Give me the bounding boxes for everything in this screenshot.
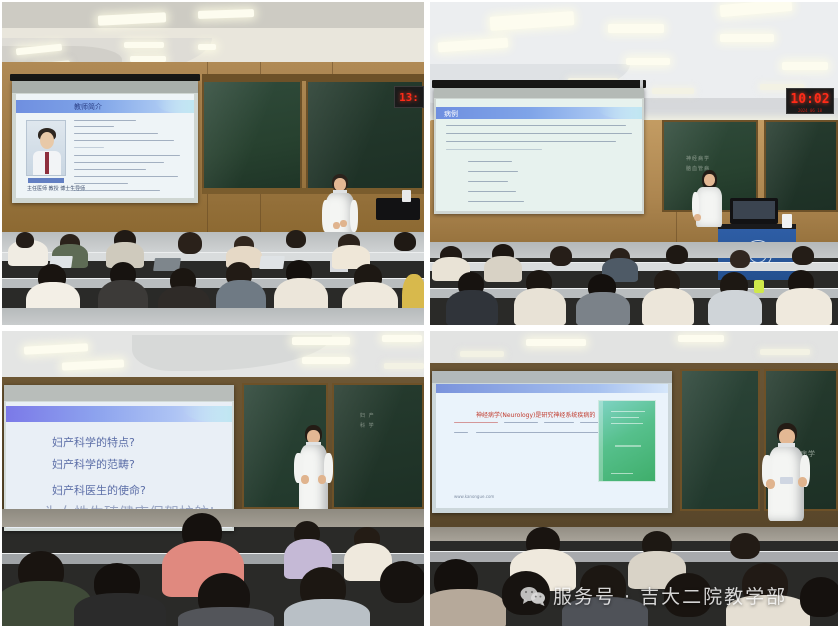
book-cover-line bbox=[611, 417, 639, 418]
board-sheen bbox=[682, 371, 758, 509]
student-body bbox=[776, 288, 832, 325]
bullet-line bbox=[74, 155, 180, 156]
body-line bbox=[544, 422, 574, 423]
student-head bbox=[16, 232, 34, 248]
slide-question-3: 妇产科医生的使命? bbox=[52, 482, 146, 498]
bullet-line bbox=[74, 169, 146, 170]
chalk-text: 科 学 bbox=[360, 423, 375, 430]
band-swoosh bbox=[155, 100, 194, 113]
portrait-name-bar bbox=[28, 178, 64, 183]
bullet-line bbox=[74, 140, 174, 141]
slide-title-band bbox=[436, 384, 668, 393]
lecturer-hand bbox=[301, 475, 309, 484]
screen-case bbox=[432, 80, 646, 88]
band-swoosh bbox=[597, 107, 642, 119]
body-line bbox=[446, 149, 542, 150]
ceiling-light bbox=[760, 349, 810, 355]
option-line bbox=[468, 191, 516, 192]
slide-top-left: 教师简介 主任医师 教授 博士生导师 bbox=[16, 94, 194, 198]
ceiling-light bbox=[652, 88, 694, 94]
clock-time: 13: bbox=[399, 91, 419, 104]
clock-date: 2024 06 18 bbox=[787, 108, 833, 113]
photo-collage: 13: 教师简介 主任医师 教授 博士生导师 bbox=[0, 0, 838, 626]
option-line bbox=[468, 161, 512, 162]
slide-title-band: 病例 bbox=[436, 107, 642, 119]
ceiling-light bbox=[678, 335, 724, 342]
chalk-text: 神经病学 bbox=[686, 156, 710, 163]
audience-bottom-right bbox=[430, 537, 838, 626]
book-cover bbox=[598, 400, 656, 482]
slide-question-1: 妇产科学的特点? bbox=[52, 434, 135, 450]
book-cover-line bbox=[611, 473, 633, 474]
student-body bbox=[446, 290, 498, 325]
podium-monitor bbox=[730, 198, 778, 224]
student-head bbox=[502, 571, 550, 615]
led-clock: 10:02 2024 06 18 bbox=[786, 88, 834, 114]
student-head bbox=[730, 250, 750, 268]
slide-title-band: 教师简介 bbox=[16, 100, 194, 113]
ceiling-light bbox=[626, 58, 670, 65]
screen-top-edge bbox=[4, 385, 234, 401]
panel-top-left: 13: 教师简介 主任医师 教授 博士生导师 bbox=[2, 2, 424, 325]
projection-screen: 神经病学(Neurology)是研究神经系统疾病的 www.kanongue.c… bbox=[432, 371, 672, 513]
student-head bbox=[394, 232, 416, 251]
option-line bbox=[468, 181, 508, 182]
screen-top-edge bbox=[434, 88, 644, 98]
panel-bottom-right: 神经病学 神经病学(Neurology)是研究神经系统疾病的 www.kanon… bbox=[430, 331, 838, 626]
book-cover-line bbox=[611, 411, 645, 412]
lecturer-top-right bbox=[692, 170, 726, 232]
projection-screen: 病例 bbox=[434, 88, 644, 214]
slide-title-band bbox=[6, 406, 232, 422]
collage-gutter-horizontal bbox=[0, 325, 838, 331]
student-body bbox=[430, 589, 506, 626]
book-spine bbox=[599, 401, 603, 481]
portrait-photo bbox=[26, 120, 66, 176]
student-head bbox=[800, 577, 838, 617]
ceiling-light bbox=[460, 351, 504, 357]
portrait-face bbox=[40, 132, 54, 149]
bullet-line bbox=[74, 183, 128, 184]
equipment-box bbox=[402, 190, 411, 202]
lecturer-arm bbox=[350, 200, 358, 232]
lecturer-hand bbox=[333, 222, 340, 229]
screen-top-edge bbox=[12, 81, 198, 93]
name-badge bbox=[780, 477, 793, 484]
lecturer-arm bbox=[322, 200, 330, 232]
board-chalk-tray bbox=[202, 188, 424, 194]
student-body bbox=[708, 290, 762, 325]
equipment-table bbox=[376, 198, 420, 220]
body-line bbox=[504, 422, 538, 423]
slide-heading: 神经病学(Neurology)是研究神经系统疾病的 bbox=[476, 410, 595, 419]
body-line-red bbox=[454, 422, 498, 423]
chalk-text: 妇 产 bbox=[360, 413, 375, 420]
audience-bottom-left bbox=[2, 527, 424, 626]
bullet-line bbox=[74, 190, 160, 191]
student-body bbox=[284, 599, 370, 626]
collage-edge-top bbox=[0, 0, 838, 2]
lecturer-coat bbox=[696, 187, 722, 227]
book-cover-line bbox=[611, 423, 643, 424]
student-head bbox=[380, 561, 424, 603]
ceiling-light bbox=[382, 335, 422, 342]
student-head bbox=[178, 232, 202, 254]
body-line bbox=[446, 133, 632, 134]
student-body bbox=[562, 597, 648, 626]
ceiling-light bbox=[782, 62, 828, 70]
bullet-line bbox=[74, 176, 178, 177]
student-body bbox=[74, 593, 166, 626]
student-head bbox=[286, 230, 306, 248]
foreground-floor bbox=[2, 308, 424, 325]
lecturer-hand bbox=[694, 214, 701, 221]
panel-bottom-left: 妇 产 科 学 妇产科学的特点? 妇产科学的范畴? 妇产科医生的使命? 为女性生… bbox=[2, 331, 424, 626]
ceiling-light bbox=[292, 337, 350, 345]
lecturer-hand bbox=[340, 220, 347, 227]
slide-bottom-right: 神经病学(Neurology)是研究神经系统疾病的 www.kanongue.c… bbox=[436, 384, 668, 508]
bullet-line bbox=[74, 133, 158, 134]
student-body bbox=[642, 288, 694, 325]
ceiling-light bbox=[302, 357, 350, 364]
ceiling-light bbox=[720, 34, 774, 42]
student-head bbox=[664, 573, 712, 617]
water-bottle bbox=[782, 214, 792, 228]
portrait-tie bbox=[45, 152, 49, 174]
laptop bbox=[259, 256, 285, 269]
student-head bbox=[550, 246, 572, 266]
book-title-bar bbox=[615, 445, 641, 447]
clock-time: 10:02 bbox=[790, 92, 829, 107]
ceiling-light bbox=[526, 339, 586, 346]
board-sheen bbox=[204, 82, 300, 188]
led-clock: 13: bbox=[394, 86, 424, 108]
slide-title: 教师简介 bbox=[74, 102, 102, 112]
chalkboard bbox=[202, 80, 302, 190]
body-line bbox=[446, 125, 626, 126]
lecturer-face bbox=[704, 174, 715, 186]
student-body bbox=[178, 607, 274, 626]
bullet-line bbox=[74, 126, 114, 127]
screen-top-edge bbox=[432, 371, 672, 383]
projection-screen: 教师简介 主任医师 教授 博士生导师 bbox=[12, 81, 198, 203]
student-body bbox=[484, 256, 522, 282]
collage-gutter-vertical bbox=[424, 0, 430, 626]
ceiling-light bbox=[124, 42, 164, 48]
slide-footer: www.kanongue.com bbox=[454, 494, 494, 499]
student-body bbox=[726, 595, 810, 626]
option-line bbox=[468, 171, 518, 172]
ceiling-light bbox=[198, 44, 216, 50]
bullet-line bbox=[74, 120, 136, 121]
ceiling-light bbox=[384, 363, 424, 369]
student-head bbox=[666, 245, 688, 264]
ceiling-light bbox=[608, 24, 664, 33]
slide-title: 病例 bbox=[444, 109, 458, 119]
band-swoosh bbox=[182, 406, 232, 422]
option-line bbox=[468, 201, 524, 202]
board-sheen bbox=[334, 385, 422, 507]
monitor-screen bbox=[733, 201, 775, 219]
water-bottle bbox=[754, 280, 764, 293]
board-sheen bbox=[766, 122, 836, 210]
lecturer-hand bbox=[318, 475, 326, 484]
board-frame-top bbox=[202, 74, 424, 81]
collage-edge-left bbox=[0, 0, 2, 626]
screen-case bbox=[10, 74, 200, 81]
panel-top-right: 神经病学 脑血管病 10:02 2024 06 18 病例 bbox=[430, 2, 838, 325]
body-line bbox=[476, 432, 604, 433]
lecturer-hand bbox=[798, 477, 807, 487]
student-body bbox=[514, 288, 566, 325]
chalkboard: 妇 产 科 学 bbox=[332, 383, 424, 509]
bullet-line bbox=[74, 162, 164, 163]
student-head bbox=[792, 246, 814, 265]
slide-top-right: 病例 bbox=[436, 99, 642, 211]
audience-top-right bbox=[430, 248, 838, 325]
student-body bbox=[576, 292, 630, 325]
chalkboard bbox=[680, 369, 760, 511]
bullet-line bbox=[74, 147, 104, 148]
student-head bbox=[730, 533, 760, 559]
body-line bbox=[446, 141, 616, 142]
lecturer-bottom-right bbox=[762, 423, 810, 539]
slide-question-2: 妇产科学的范畴? bbox=[52, 456, 135, 472]
lecturer-hand bbox=[766, 479, 775, 489]
body-line bbox=[454, 432, 468, 433]
